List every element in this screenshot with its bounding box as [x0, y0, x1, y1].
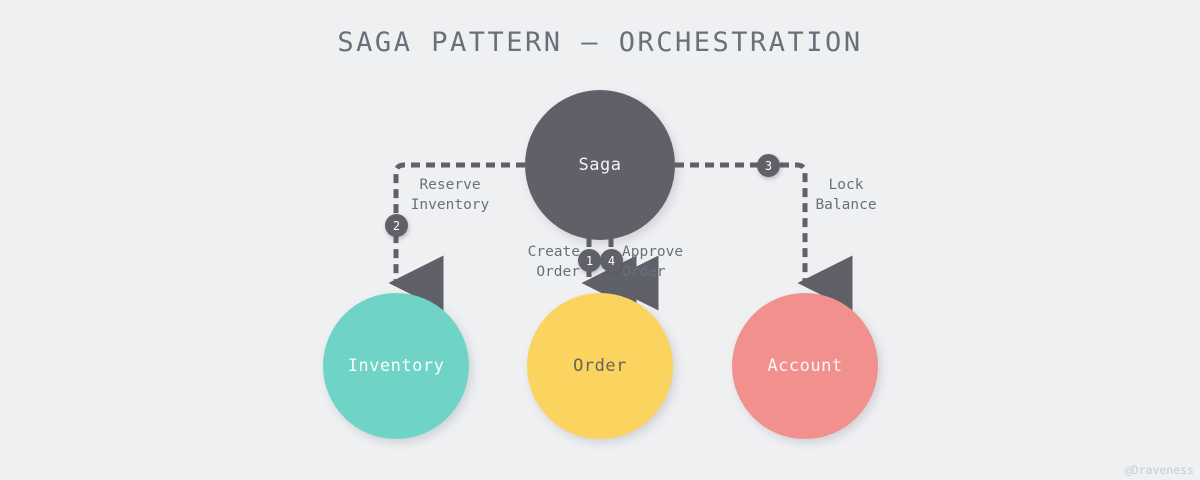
step-badge-3: 3: [757, 154, 780, 177]
node-saga[interactable]: Saga: [525, 90, 675, 240]
node-order-label: Order: [573, 356, 627, 376]
node-account[interactable]: Account: [732, 293, 878, 439]
node-inventory-label: Inventory: [348, 356, 445, 376]
node-account-label: Account: [767, 356, 842, 376]
diagram-title: SAGA PATTERN — ORCHESTRATION: [0, 27, 1200, 58]
watermark: @Draveness: [1125, 463, 1194, 477]
step-badge-1: 1: [578, 249, 601, 272]
edge-label-reserve-inventory: Reserve Inventory: [400, 175, 500, 215]
step-badge-2: 2: [385, 214, 408, 237]
node-order[interactable]: Order: [527, 293, 673, 439]
edge-label-create-order: Create Order: [508, 242, 580, 282]
step-badge-4: 4: [600, 249, 623, 272]
node-inventory[interactable]: Inventory: [323, 293, 469, 439]
edge-label-approve-order: Approve Order: [622, 242, 702, 282]
edge-label-lock-balance: Lock Balance: [800, 175, 892, 215]
node-saga-label: Saga: [579, 155, 622, 175]
